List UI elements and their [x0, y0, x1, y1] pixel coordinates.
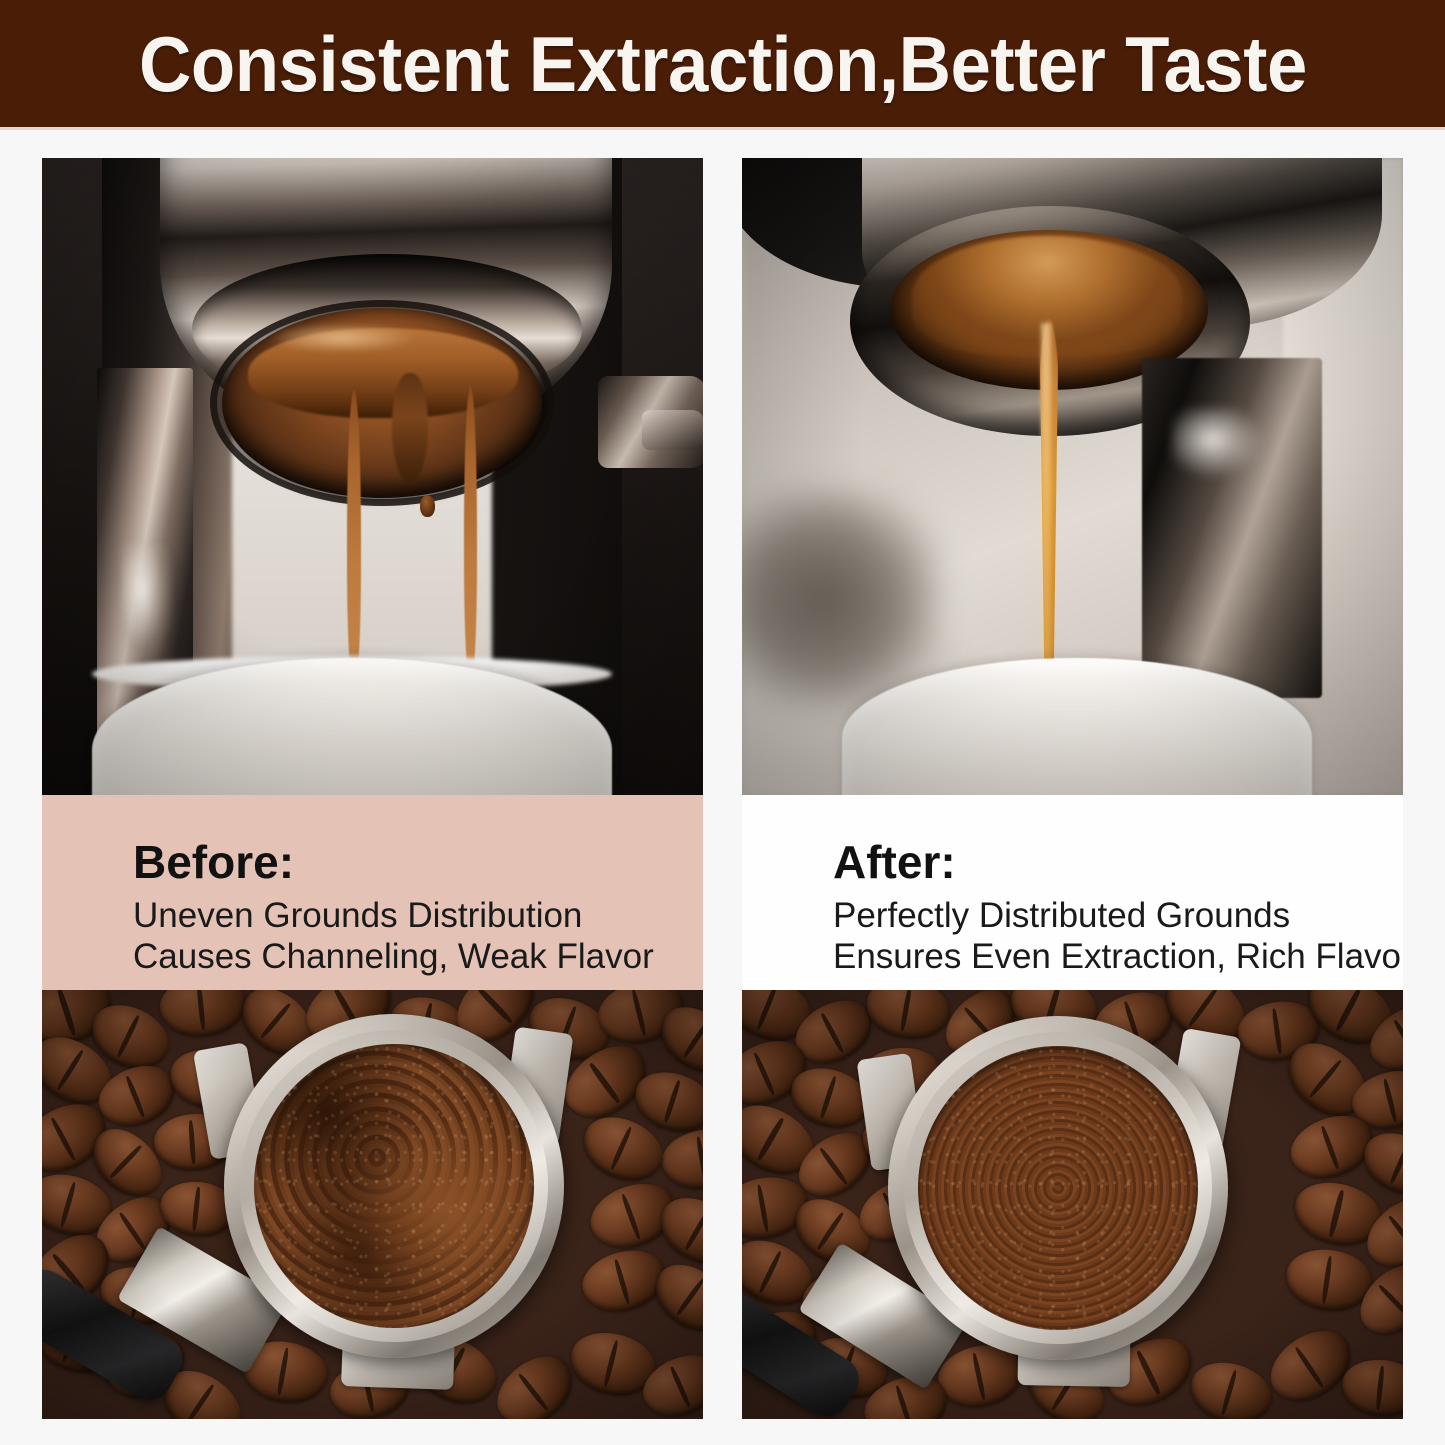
espresso-drip-scene: [42, 158, 703, 795]
grounds-texture: [254, 1044, 534, 1328]
after-caption-panel: After: Perfectly Distributed Grounds Ens…: [742, 795, 1403, 990]
chrome-specular-highlight: [122, 543, 172, 663]
espresso-drip-stream-left: [347, 390, 361, 680]
coffee-bean: [862, 990, 955, 1045]
even-grounds-scene: [742, 990, 1403, 1419]
uneven-grounds-scene: [42, 990, 703, 1419]
after-heading: After:: [833, 839, 1403, 885]
before-extraction-photo: [42, 158, 703, 795]
machine-spout-tip: [642, 410, 703, 450]
espresso-droplet: [420, 495, 435, 517]
after-line-2: Ensures Even Extraction, Rich Flavor: [833, 936, 1403, 977]
espresso-stream-scene: [742, 158, 1403, 795]
coffee-grounds-even: [918, 1046, 1198, 1330]
coffee-bean: [1184, 1354, 1279, 1419]
espresso-drip-stream-right: [464, 386, 477, 676]
before-line-2: Causes Channeling, Weak Flavor: [133, 936, 703, 977]
header-banner: Consistent Extraction,Better Taste: [0, 0, 1445, 127]
coffee-bean: [658, 1123, 703, 1195]
after-column: After: Perfectly Distributed Grounds Ens…: [742, 158, 1403, 1419]
before-heading: Before:: [133, 839, 703, 885]
grounds-texture: [918, 1046, 1198, 1330]
espresso-stream-highlight: [1041, 323, 1051, 683]
espresso-drip-center: [392, 373, 428, 483]
product-infographic: Consistent Extraction,Better Taste: [0, 0, 1445, 1445]
before-column: Before: Uneven Grounds Distribution Caus…: [42, 158, 703, 1419]
background-bokeh: [742, 488, 942, 708]
before-line-1: Uneven Grounds Distribution: [133, 895, 703, 936]
coffee-bean: [157, 990, 249, 1040]
before-caption-panel: Before: Uneven Grounds Distribution Caus…: [42, 795, 703, 990]
after-line-1: Perfectly Distributed Grounds: [833, 895, 1403, 936]
crema-highlight: [267, 323, 417, 353]
header-divider: [0, 127, 1445, 130]
after-extraction-photo: [742, 158, 1403, 795]
coffee-grounds-uneven: [254, 1044, 534, 1328]
after-grounds-photo: [742, 990, 1403, 1419]
coffee-bean: [1339, 1356, 1403, 1419]
chrome-specular-highlight: [1172, 408, 1262, 478]
before-grounds-photo: [42, 990, 703, 1419]
page-title: Consistent Extraction,Better Taste: [139, 25, 1307, 103]
